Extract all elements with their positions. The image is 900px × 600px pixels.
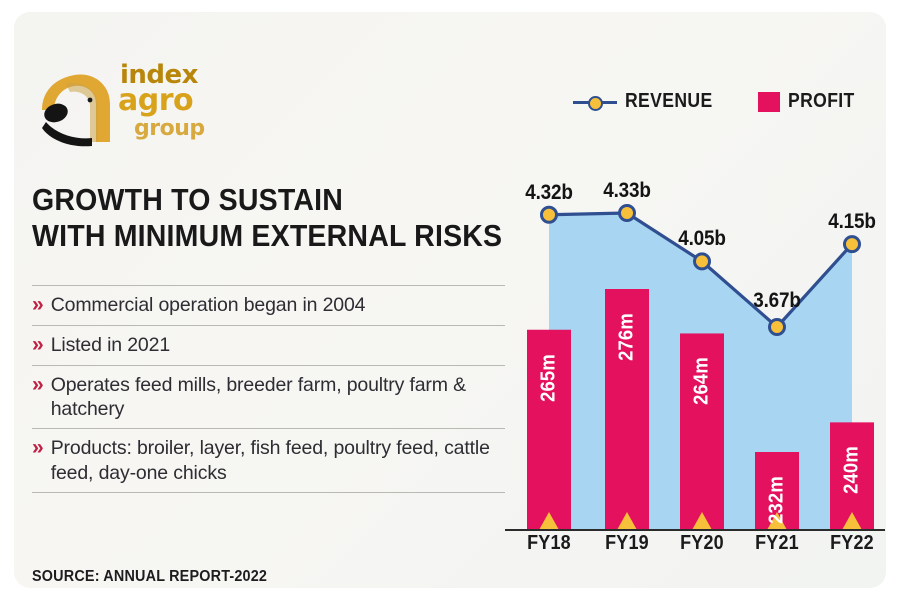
profit-label-fy19: 276m bbox=[616, 313, 639, 361]
page-title-line2: WITH MINIMUM EXTERNAL RISKS bbox=[32, 218, 474, 254]
legend-label-profit: PROFIT bbox=[788, 90, 855, 113]
logo-word-agro: agro bbox=[118, 86, 193, 116]
x-axis-labels: FY18FY19FY20FY21FY22 bbox=[505, 532, 885, 562]
double-chevron-icon: » bbox=[32, 333, 44, 358]
list-item-text: Operates feed mills, breeder farm, poult… bbox=[51, 373, 505, 422]
list-item: » Commercial operation began in 2004 bbox=[32, 286, 505, 325]
profit-label-fy21: 232m bbox=[766, 476, 789, 524]
x-axis-tick-fy20: FY20 bbox=[680, 532, 724, 555]
logo-word-group: group bbox=[134, 118, 205, 140]
profit-label-fy22: 240m bbox=[841, 446, 864, 494]
revenue-label-fy18: 4.32b bbox=[525, 181, 572, 205]
brand-logo: index agro group bbox=[30, 52, 250, 160]
x-axis-tick-fy22: FY22 bbox=[830, 532, 874, 555]
x-axis-tick-fy21: FY21 bbox=[755, 532, 799, 555]
list-item: » Products: broiler, layer, fish feed, p… bbox=[32, 429, 505, 492]
x-axis-tick-fy19: FY19 bbox=[605, 532, 649, 555]
chart-legend: REVENUE PROFIT bbox=[573, 90, 864, 113]
source-note: SOURCE: ANNUAL REPORT-2022 bbox=[32, 568, 267, 586]
infographic-canvas: index agro group REVENUE PROFIT GROWTH T… bbox=[0, 0, 900, 600]
fact-list: » Commercial operation began in 2004 » L… bbox=[32, 285, 505, 493]
legend-label-revenue: REVENUE bbox=[625, 90, 713, 113]
brand-logo-text: index agro group bbox=[118, 60, 248, 152]
list-divider bbox=[32, 492, 505, 493]
legend-item-profit[interactable]: PROFIT bbox=[758, 90, 864, 113]
list-item: » Operates feed mills, breeder farm, pou… bbox=[32, 366, 505, 429]
list-item: » Listed in 2021 bbox=[32, 326, 505, 365]
profit-label-fy18: 265m bbox=[538, 354, 561, 402]
legend-item-revenue[interactable]: REVENUE bbox=[573, 90, 725, 113]
double-chevron-icon: » bbox=[32, 293, 44, 318]
list-item-text: Listed in 2021 bbox=[51, 333, 170, 357]
revenue-label-fy21: 3.67b bbox=[753, 289, 800, 313]
page-title-line1: GROWTH TO SUSTAIN bbox=[32, 182, 474, 218]
double-chevron-icon: » bbox=[32, 436, 44, 461]
revenue-label-fy19: 4.33b bbox=[603, 179, 650, 203]
x-axis-tick-fy18: FY18 bbox=[527, 532, 571, 555]
page-title: GROWTH TO SUSTAIN WITH MINIMUM EXTERNAL … bbox=[32, 182, 474, 254]
revenue-label-fy22: 4.15b bbox=[828, 210, 875, 234]
list-item-text: Products: broiler, layer, fish feed, pou… bbox=[51, 436, 505, 485]
revenue-label-fy20: 4.05b bbox=[678, 227, 725, 251]
list-item-text: Commercial operation began in 2004 bbox=[51, 293, 366, 317]
double-chevron-icon: » bbox=[32, 373, 44, 398]
chicken-head-logo-icon bbox=[36, 60, 128, 152]
square-swatch-icon bbox=[758, 92, 780, 112]
line-marker-icon bbox=[573, 95, 617, 109]
profit-label-fy20: 264m bbox=[691, 358, 714, 406]
